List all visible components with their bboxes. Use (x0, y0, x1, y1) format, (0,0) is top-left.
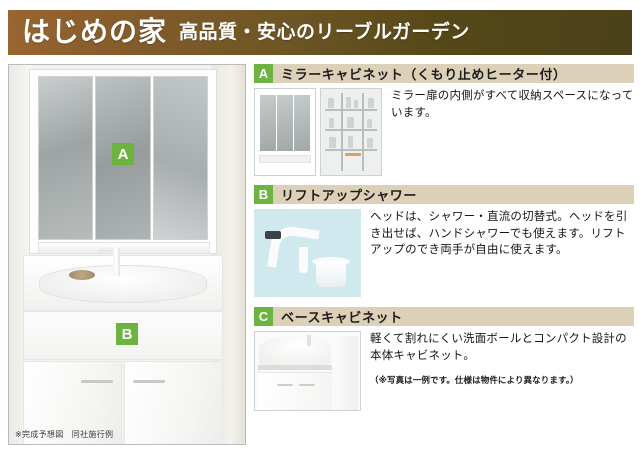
vanity-door-right (124, 361, 223, 445)
section-a-badge: A (254, 64, 273, 83)
page-header: はじめの家 高品質・安心のリーブルガーデン (8, 10, 632, 55)
photo-caption: ※完成予想図 同社施行例 (15, 429, 113, 440)
cabinet-doors (258, 372, 332, 411)
cabinet-side (334, 336, 358, 410)
section-b-description: ヘッドは、シャワー・直流の切替式。ヘッドを引き出せば、ハンドシャワーでも使えます… (370, 209, 634, 297)
shower-spout-lower (299, 247, 308, 273)
section-a-header: A ミラーキャビネット（くもり止めヒーター付） (254, 64, 634, 83)
section-c-body: 軽くて割れにくい洗面ボールとコンパクト設計の本体キャビネット。 （※写真は一例で… (254, 331, 634, 411)
section-a-body: ミラー扉の内側がすべて収納スペースになっています。 (254, 88, 634, 176)
section-mirror-cabinet: A ミラーキャビネット（くもり止めヒーター付） (254, 64, 634, 176)
base-cabinet-image (254, 331, 361, 411)
wash-basin (39, 265, 207, 303)
section-b-images (254, 209, 361, 297)
thumb-mirror-doors (260, 95, 310, 151)
mirror-cabinet-closed-image (254, 88, 316, 176)
cabinet-band (258, 365, 332, 370)
section-c-title: ベースキャビネット (281, 307, 403, 326)
section-b-header: B リフトアップシャワー (254, 185, 634, 204)
photo-badge-b: B (116, 323, 138, 345)
page-subtitle: 高品質・安心のリーブルガーデン (179, 23, 470, 42)
basin-tap (307, 335, 311, 346)
section-b-title: リフトアップシャワー (281, 185, 417, 204)
section-b-badge: B (254, 185, 273, 204)
photo-badge-a: A (112, 143, 134, 165)
feature-list: A ミラーキャビネット（くもり止めヒーター付） (254, 64, 634, 418)
section-lift-up-shower: B リフトアップシャワー ヘッドは、シャワー・直流の切替式。ヘッドを引き出せば、… (254, 185, 634, 297)
door-handle-left (81, 380, 113, 383)
section-b-body: ヘッドは、シャワー・直流の切替式。ヘッドを引き出せば、ハンドシャワーでも使えます… (254, 209, 634, 297)
door-handle-right (133, 380, 165, 383)
disclaimer-note: （※写真は一例です。仕様は物件により異なります。） (370, 374, 634, 386)
section-c-header: C ベースキャビネット (254, 307, 634, 326)
mirror-door-left (38, 76, 93, 240)
vanity-photo-panel: A B C ※完成予想図 同社施行例 (8, 64, 246, 445)
shower-nozzle (265, 231, 281, 239)
section-a-images (254, 88, 382, 176)
section-a-title: ミラーキャビネット（くもり止めヒーター付） (281, 64, 567, 83)
cabinet-shelf (38, 242, 210, 254)
section-c-badge: C (254, 307, 273, 326)
shower-head-image (254, 209, 361, 297)
page-title: はじめの家 (22, 19, 167, 47)
basin-bowl (259, 337, 331, 365)
soap-dish (69, 270, 95, 280)
faucet-neck (113, 247, 120, 277)
mirror-cabinet-open-image (320, 88, 382, 176)
section-a-description: ミラー扉の内側がすべて収納スペースになっています。 (391, 88, 634, 176)
page-root: はじめの家 高品質・安心のリーブルガーデン A B C ※完成予想図 同社施行例 (0, 0, 640, 453)
section-c-description: 軽くて割れにくい洗面ボールとコンパクト設計の本体キャビネット。 (370, 331, 634, 364)
section-base-cabinet: C ベースキャビネット 軽くて割れにくい洗面ボールとコンパクト設計の本体キャビネ… (254, 307, 634, 411)
faucet-base (316, 261, 346, 287)
section-c-images (254, 331, 361, 411)
mirror-door-right (153, 76, 208, 240)
thumb-cabinet-base (259, 155, 311, 163)
